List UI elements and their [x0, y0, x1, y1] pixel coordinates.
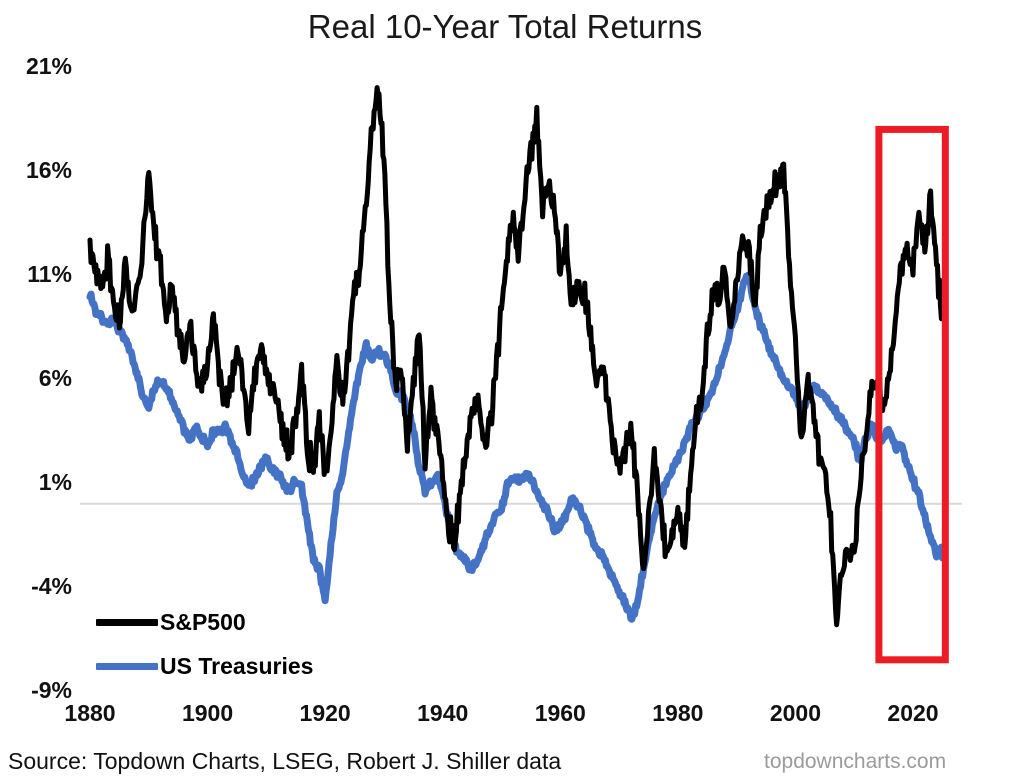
- y-axis-tick-label: -4%: [4, 575, 72, 598]
- legend-label: US Treasuries: [160, 655, 313, 678]
- x-axis-tick-label: 2000: [750, 702, 840, 725]
- y-axis-tick-label: 21%: [4, 55, 72, 78]
- y-axis-tick-label: 16%: [4, 159, 72, 182]
- y-axis-tick-label: 11%: [4, 263, 72, 286]
- y-axis-tick-label: 1%: [4, 471, 72, 494]
- y-axis-tick-label: -9%: [4, 679, 72, 702]
- legend-swatch-icon: [96, 663, 158, 670]
- legend-label: S&P500: [160, 611, 246, 634]
- chart-root: Real 10-Year Total Returns 21%16%11%6%1%…: [0, 0, 1010, 783]
- legend-item-sp500[interactable]: S&P500: [96, 611, 246, 634]
- source-note: Source: Topdown Charts, LSEG, Robert J. …: [8, 748, 561, 775]
- y-axis-tick-label: 6%: [4, 367, 72, 390]
- x-axis-tick-label: 2020: [868, 702, 958, 725]
- watermark-label: topdowncharts.com: [764, 750, 946, 774]
- legend-swatch-icon: [96, 619, 158, 626]
- legend-item-us-treasuries[interactable]: US Treasuries: [96, 655, 313, 678]
- x-axis-tick-label: 1980: [633, 702, 723, 725]
- x-axis-tick-label: 1960: [515, 702, 605, 725]
- y-axis: 21%16%11%6%1%-4%-9%: [0, 0, 72, 783]
- series-line-sp500: [90, 88, 942, 625]
- x-axis-tick-label: 1900: [163, 702, 253, 725]
- x-axis-tick-label: 1940: [398, 702, 488, 725]
- x-axis-tick-label: 1920: [280, 702, 370, 725]
- x-axis-tick-label: 1880: [45, 702, 135, 725]
